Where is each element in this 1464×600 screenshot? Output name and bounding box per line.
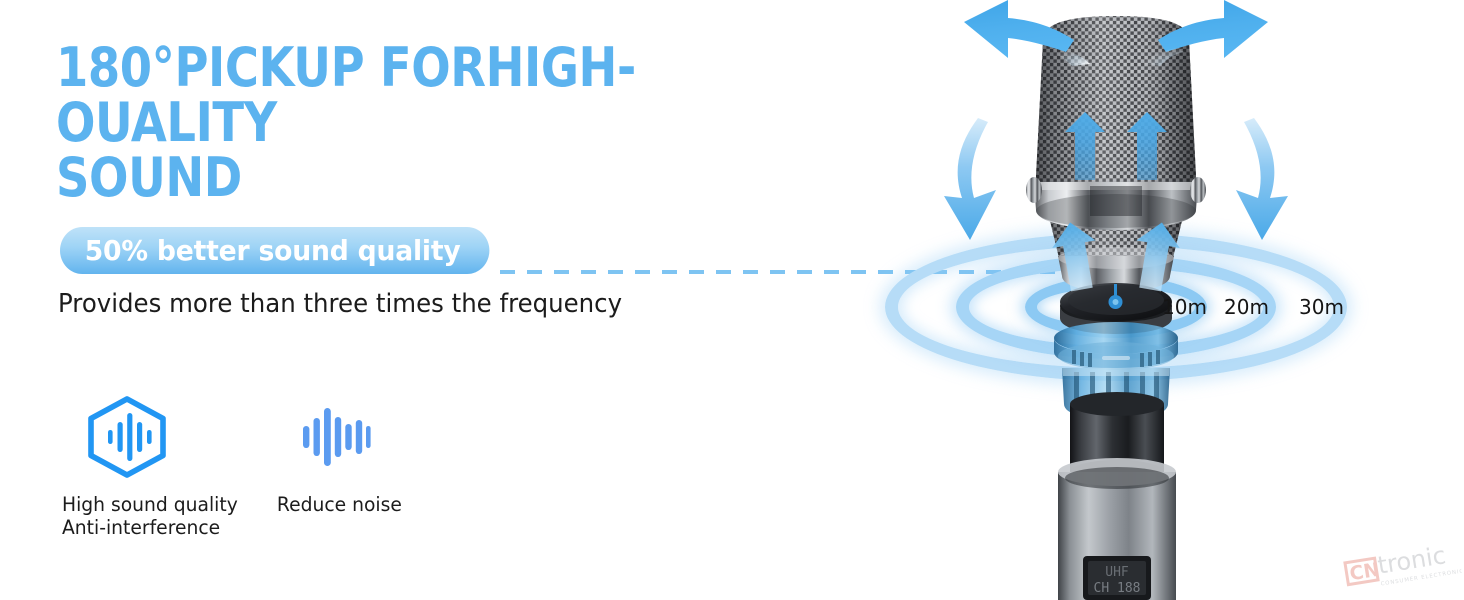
- distance-label-20m: 20m: [1224, 295, 1269, 319]
- status-badge: 50% better sound quality: [60, 227, 489, 274]
- mic-chrome-band: [1026, 177, 1206, 230]
- feature-label: High sound quality Anti-interference: [62, 493, 283, 539]
- curved-arrow-down-right: [1236, 118, 1288, 240]
- subtitle-text: Provides more than three times the frequ…: [58, 289, 622, 319]
- mic-body-dark: [1070, 392, 1164, 484]
- feature-icon-wrap: [62, 396, 292, 478]
- arrow-out-upper-right: [1142, 0, 1268, 66]
- feature-label: Reduce noise: [275, 493, 438, 516]
- badge-label: 50% better sound quality: [85, 234, 461, 267]
- mic-lcd-channel: CH 188: [1094, 581, 1141, 596]
- mic-lcd-text: UHF: [1105, 565, 1129, 580]
- feature-item-reduce-noise: Reduce noise: [275, 396, 445, 516]
- hexagon-waveform-icon: [84, 396, 170, 478]
- brand-watermark: CN tronic CONSUMER ELECTRONICS RETAILER: [1340, 525, 1464, 600]
- feature-icon-wrap: [275, 396, 445, 478]
- distance-label-30m: 30m: [1299, 295, 1344, 319]
- feature-item-high-sound-quality: High sound quality Anti-interference: [62, 396, 292, 539]
- curved-arrow-down-left: [944, 118, 996, 240]
- mic-lcd-panel: [1083, 556, 1151, 600]
- mic-handle-silver: UHF CH 188: [1058, 458, 1176, 600]
- arrow-out-upper-left: [964, 0, 1090, 66]
- promo-banner: 180°PICKUP FORHIGH-OUALITY SOUND 50% bet…: [0, 0, 1464, 600]
- arrow-up-left: [1065, 112, 1105, 180]
- arrow-up-right: [1127, 112, 1167, 180]
- waveform-icon: [295, 396, 371, 478]
- watermark-badge-text: CN: [1348, 559, 1381, 585]
- distance-label-10m: 10m: [1162, 295, 1207, 319]
- page-title: 180°PICKUP FORHIGH-OUALITY SOUND: [56, 40, 735, 205]
